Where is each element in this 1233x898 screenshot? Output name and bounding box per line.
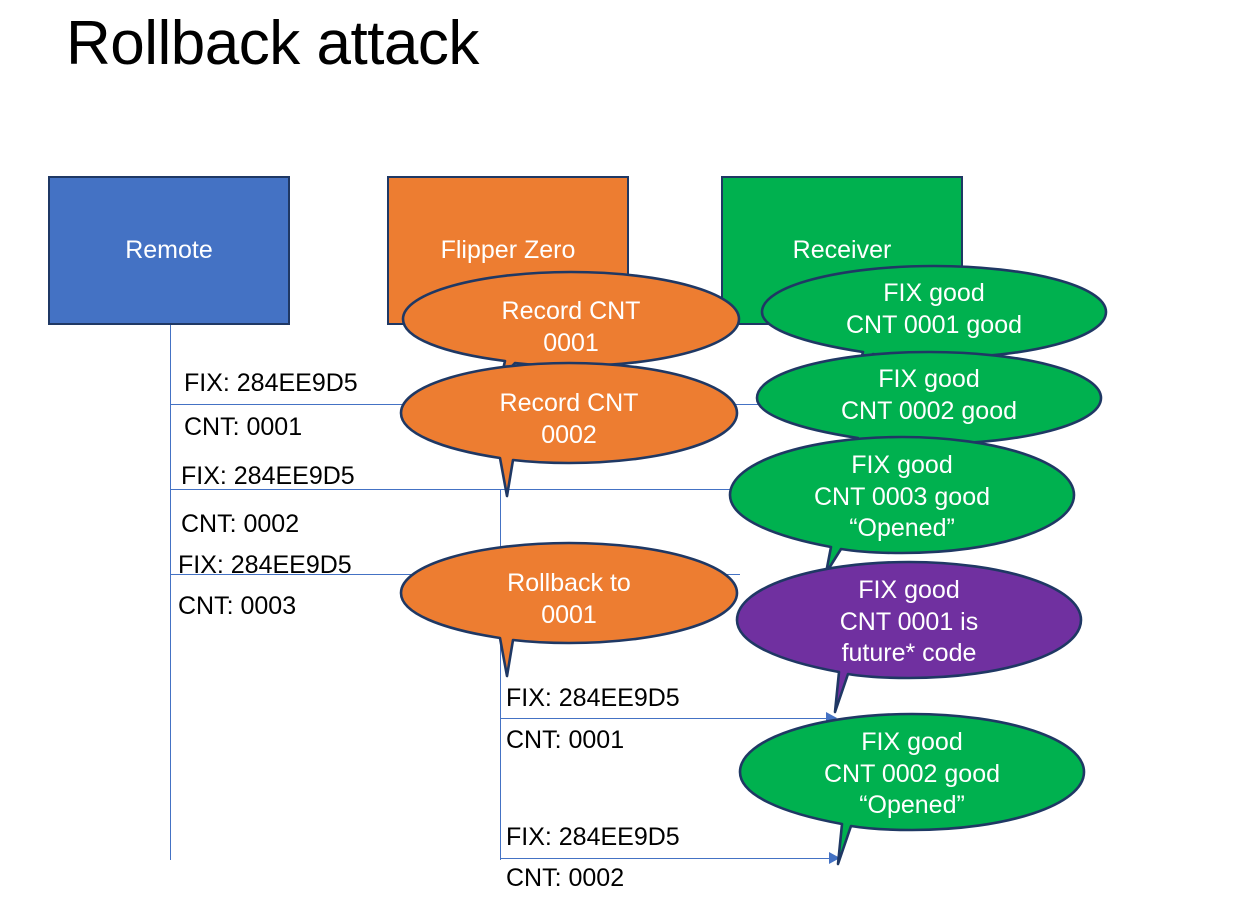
bubble-shape (399, 541, 739, 686)
slide-canvas: Rollback attack Remote Flipper Zero Rece… (0, 0, 1233, 898)
message-text-m2-fix: FIX: 284EE9D5 (181, 461, 355, 492)
message-text-m4-cnt: CNT: 0001 (506, 725, 624, 756)
bubble-receiver-cnt-0002-opened[interactable]: FIX good CNT 0002 good “Opened” (738, 712, 1086, 877)
message-text-m5-cnt: CNT: 0002 (506, 863, 624, 894)
bubble-receiver-cnt-0001-future[interactable]: FIX good CNT 0001 is future* code (735, 560, 1083, 725)
lifeline-remote (170, 325, 171, 860)
actor-box-remote[interactable]: Remote (48, 176, 290, 325)
actor-label-remote: Remote (50, 236, 288, 265)
actor-label-flipper: Flipper Zero (389, 236, 627, 265)
bubble-flipper-record-0002[interactable]: Record CNT 0002 (399, 361, 739, 506)
message-text-m4-fix: FIX: 284EE9D5 (506, 683, 680, 714)
bubble-shape (738, 712, 1086, 877)
page-title: Rollback attack (66, 10, 479, 78)
message-text-m2-cnt: CNT: 0002 (181, 509, 299, 540)
message-text-m3-cnt: CNT: 0003 (178, 591, 296, 622)
message-text-m1-fix: FIX: 284EE9D5 (184, 368, 358, 399)
bubble-shape (735, 560, 1083, 725)
bubble-flipper-rollback-0001[interactable]: Rollback to 0001 (399, 541, 739, 686)
bubble-shape (399, 361, 739, 506)
actor-label-receiver: Receiver (723, 236, 961, 265)
message-text-m3-fix: FIX: 284EE9D5 (178, 550, 352, 581)
message-text-m1-cnt: CNT: 0001 (184, 412, 302, 443)
message-text-m5-fix: FIX: 284EE9D5 (506, 822, 680, 853)
